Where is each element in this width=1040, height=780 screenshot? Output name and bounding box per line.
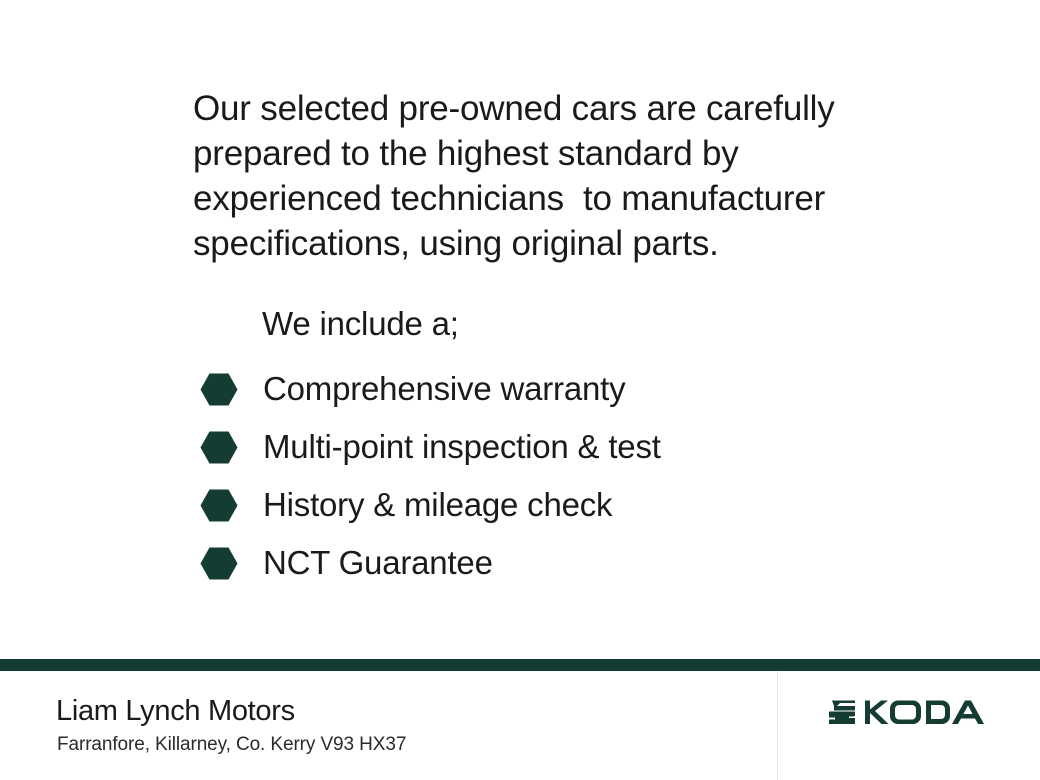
skoda-wordmark-logo [828, 697, 988, 731]
hexagon-bullet-icon [200, 431, 238, 464]
list-item-label: NCT Guarantee [263, 544, 493, 582]
list-item: History & mileage check [200, 476, 900, 534]
footer-vertical-divider [777, 671, 778, 780]
include-lead-in: We include a; [262, 303, 459, 345]
dealer-name: Liam Lynch Motors [56, 694, 295, 728]
hexagon-bullet-icon [200, 547, 238, 580]
hexagon-bullet-icon [200, 489, 238, 522]
promo-slide: Our selected pre-owned cars are carefull… [0, 0, 1040, 780]
list-item-label: History & mileage check [263, 486, 612, 524]
headline-text: Our selected pre-owned cars are carefull… [193, 86, 913, 266]
benefits-list: Comprehensive warranty Multi-point inspe… [200, 360, 900, 592]
dealer-address: Farranfore, Killarney, Co. Kerry V93 HX3… [57, 733, 406, 757]
list-item: Multi-point inspection & test [200, 418, 900, 476]
list-item-label: Comprehensive warranty [263, 370, 625, 408]
list-item-label: Multi-point inspection & test [263, 428, 661, 466]
footer-accent-bar [0, 659, 1040, 671]
list-item: Comprehensive warranty [200, 360, 900, 418]
list-item: NCT Guarantee [200, 534, 900, 592]
hexagon-bullet-icon [200, 373, 238, 406]
